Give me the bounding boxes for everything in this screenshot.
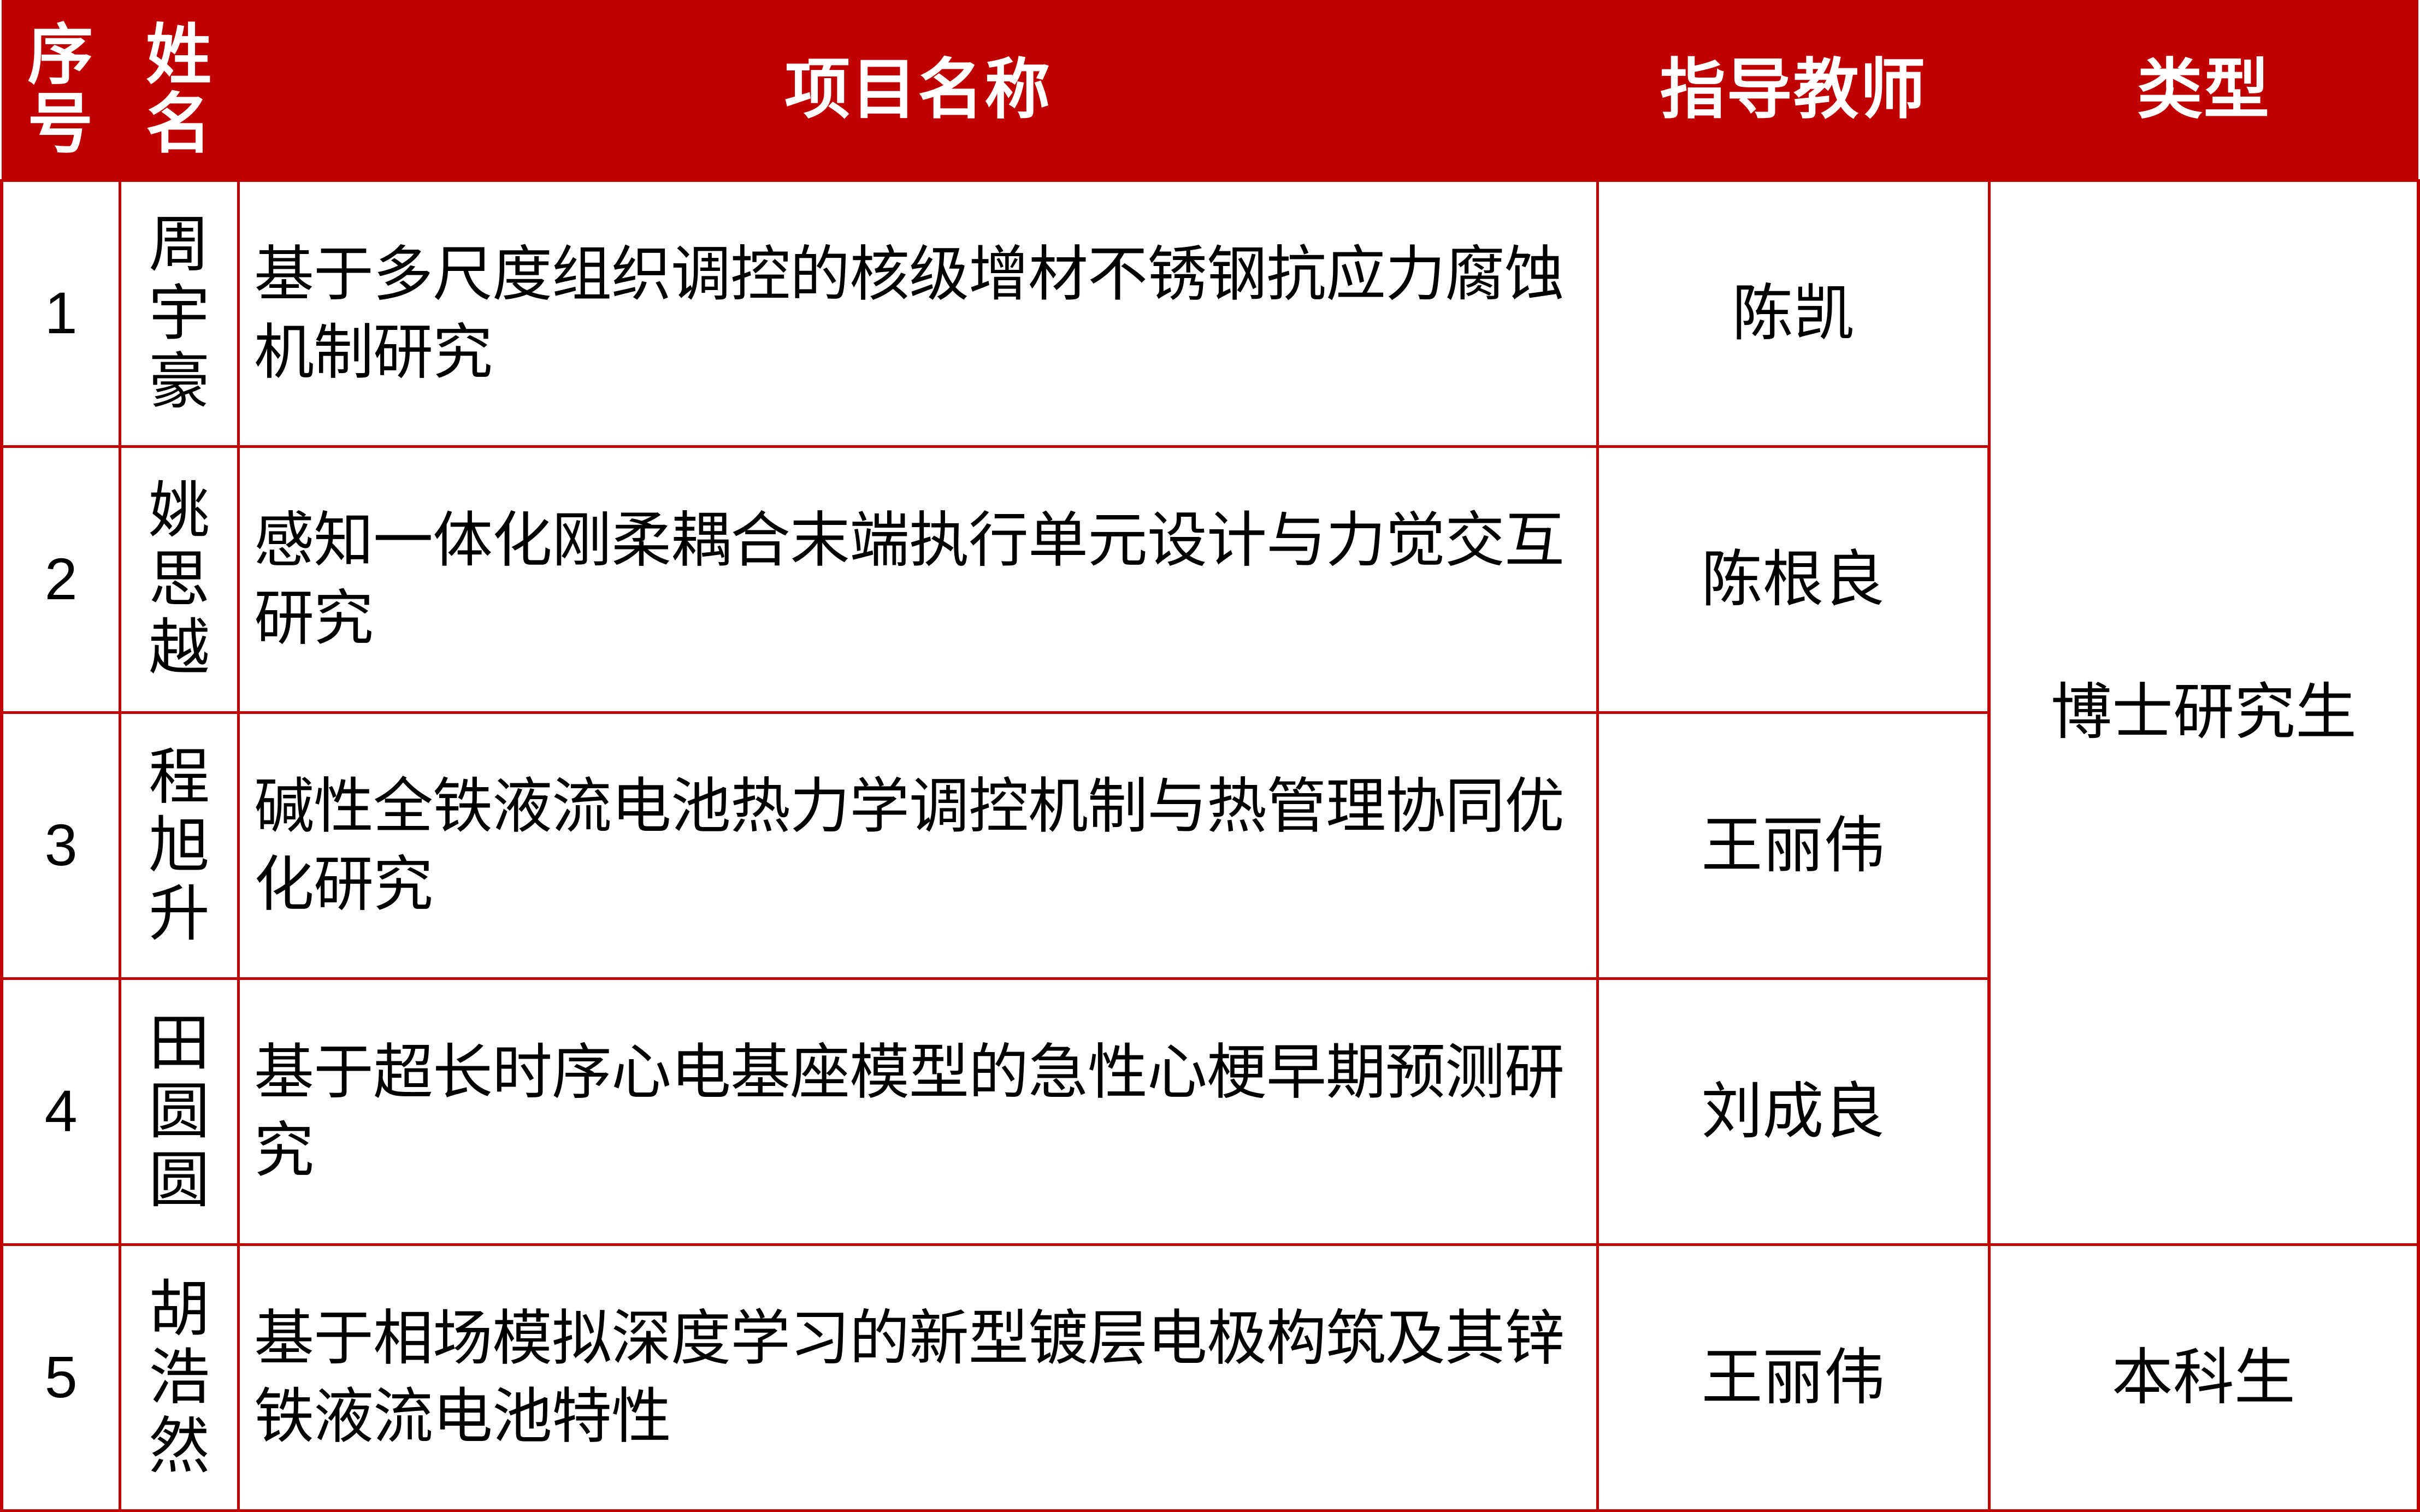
cell-student-name: 周宇豪 <box>120 180 239 446</box>
cell-project-title: 碱性全铁液流电池热力学调控机制与热管理协同优化研究 <box>239 712 1598 978</box>
cell-student-name: 田圆圆 <box>120 978 239 1244</box>
table-header: 序号 姓名 项目名称 指导教师 类型 <box>2 0 2418 180</box>
cell-index: 3 <box>2 712 120 978</box>
cell-advisor-name: 刘成良 <box>1597 978 1989 1244</box>
cell-advisor-name: 王丽伟 <box>1597 1244 1989 1510</box>
cell-index: 1 <box>2 180 120 446</box>
cell-project-title: 基于相场模拟深度学习的新型镀层电极构筑及其锌铁液流电池特性 <box>239 1244 1598 1510</box>
cell-project-title: 基于超长时序心电基座模型的急性心梗早期预测研究 <box>239 978 1598 1244</box>
column-header-index: 序号 <box>2 0 120 180</box>
student-project-table: 序号 姓名 项目名称 指导教师 类型 1 周宇豪 基于多尺度组织调控的核级增材不… <box>0 0 2420 1512</box>
cell-type-undergraduate: 本科生 <box>1989 1244 2418 1510</box>
column-header-type: 类型 <box>1989 0 2418 180</box>
column-header-advisor: 指导教师 <box>1597 0 1989 180</box>
column-header-project: 项目名称 <box>239 0 1598 180</box>
table-row: 1 周宇豪 基于多尺度组织调控的核级增材不锈钢抗应力腐蚀机制研究 陈凯 博士研究… <box>2 180 2418 446</box>
cell-advisor-name: 陈凯 <box>1597 180 1989 446</box>
cell-student-name: 姚思越 <box>120 446 239 712</box>
cell-index: 2 <box>2 446 120 712</box>
cell-advisor-name: 陈根良 <box>1597 446 1989 712</box>
cell-index: 4 <box>2 978 120 1244</box>
table-row: 5 胡浩然 基于相场模拟深度学习的新型镀层电极构筑及其锌铁液流电池特性 王丽伟 … <box>2 1244 2418 1510</box>
cell-type-doctoral: 博士研究生 <box>1989 180 2418 1244</box>
cell-student-name: 胡浩然 <box>120 1244 239 1510</box>
header-row: 序号 姓名 项目名称 指导教师 类型 <box>2 0 2418 180</box>
cell-advisor-name: 王丽伟 <box>1597 712 1989 978</box>
cell-student-name: 程旭升 <box>120 712 239 978</box>
column-header-name: 姓名 <box>120 0 239 180</box>
table-body: 1 周宇豪 基于多尺度组织调控的核级增材不锈钢抗应力腐蚀机制研究 陈凯 博士研究… <box>2 180 2418 1511</box>
cell-index: 5 <box>2 1244 120 1510</box>
cell-project-title: 感知一体化刚柔耦合末端执行单元设计与力觉交互研究 <box>239 446 1598 712</box>
cell-project-title: 基于多尺度组织调控的核级增材不锈钢抗应力腐蚀机制研究 <box>239 180 1598 446</box>
table-container: 序号 姓名 项目名称 指导教师 类型 1 周宇豪 基于多尺度组织调控的核级增材不… <box>0 0 2420 1512</box>
